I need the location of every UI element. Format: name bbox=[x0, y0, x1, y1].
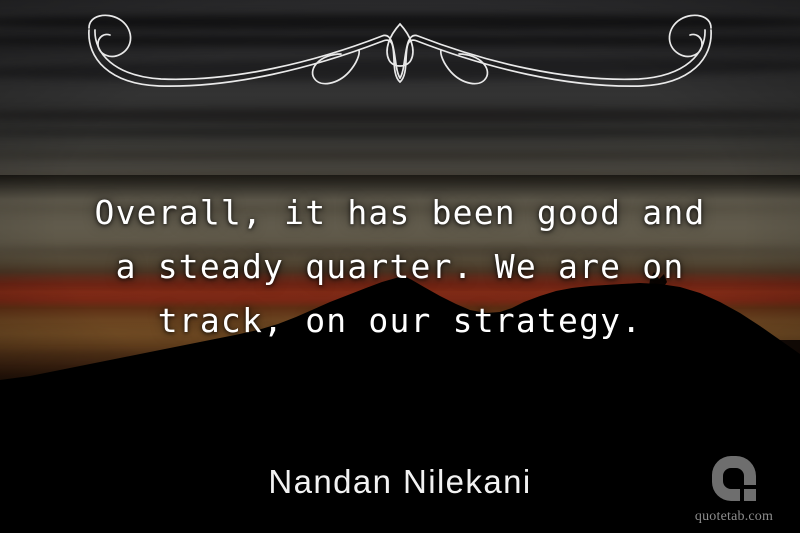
quote-text: Overall, it has been good and a steady q… bbox=[0, 186, 800, 348]
quote-author: Nandan Nilekani bbox=[0, 463, 800, 501]
decorative-flourish-divider bbox=[83, 6, 717, 98]
site-logo-text: quotetab.com bbox=[682, 509, 786, 525]
site-logo[interactable]: quotetab.com bbox=[682, 455, 786, 525]
quote-card: Overall, it has been good and a steady q… bbox=[0, 0, 800, 533]
q-logo-icon bbox=[711, 455, 757, 507]
